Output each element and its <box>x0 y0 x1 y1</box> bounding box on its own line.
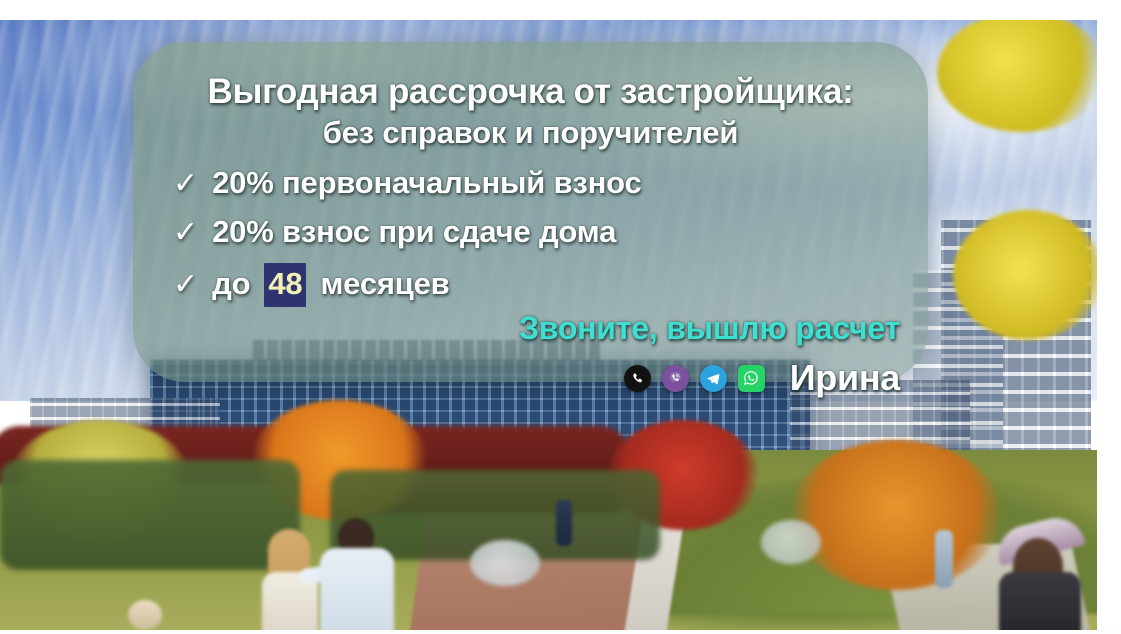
shrub-ball-right <box>761 520 821 564</box>
advertisement-poster: Выгодная рассрочка от застройщика: без с… <box>0 0 1121 634</box>
right-white-band <box>1097 20 1121 634</box>
check-icon: ✓ <box>173 270 198 300</box>
foreground-right-person-body <box>999 572 1081 634</box>
shrub-ball-center <box>470 540 540 586</box>
whatsapp-icon[interactable] <box>738 365 765 392</box>
foreground-man-body <box>320 548 394 634</box>
contact-icons-row: Ирина <box>430 357 900 399</box>
list-item: ✓ 20% первоначальный взнос <box>173 165 902 201</box>
distant-person-left <box>128 600 162 630</box>
bottom-white-band <box>0 630 1121 634</box>
bullet-text: 20% первоначальный взнос <box>212 165 641 201</box>
headline: Выгодная рассрочка от застройщика: <box>159 72 902 111</box>
list-item: ✓ до 48 месяцев <box>173 263 902 307</box>
bullet-text: 20% взнос при сдаче дома <box>212 214 616 250</box>
tree-canopy-yellow-right <box>953 210 1103 340</box>
viber-icon[interactable] <box>662 365 689 392</box>
phone-icon[interactable] <box>624 365 651 392</box>
call-to-action-block: Звоните, вышлю расчет <box>430 310 900 399</box>
distant-person-right <box>935 530 953 588</box>
telegram-icon[interactable] <box>700 365 727 392</box>
check-icon: ✓ <box>173 218 198 248</box>
subheadline: без справок и поручителей <box>159 115 902 151</box>
conifer-row-left <box>0 460 300 570</box>
top-white-band <box>0 0 1121 20</box>
bullet-text-suffix: месяцев <box>320 266 449 302</box>
distant-person-path <box>556 500 572 546</box>
check-icon: ✓ <box>173 169 198 199</box>
list-item: ✓ 20% взнос при сдаче дома <box>173 214 902 250</box>
offer-panel: Выгодная рассрочка от застройщика: без с… <box>133 42 928 382</box>
agent-name: Ирина <box>790 357 900 399</box>
offer-bullet-list: ✓ 20% первоначальный взнос ✓ 20% взнос п… <box>159 165 902 307</box>
bullet-text-prefix: до <box>212 266 250 302</box>
selected-term-months[interactable]: 48 <box>264 263 306 307</box>
tree-canopy-orange-right <box>791 440 1001 590</box>
cta-text: Звоните, вышлю расчет <box>430 310 900 347</box>
